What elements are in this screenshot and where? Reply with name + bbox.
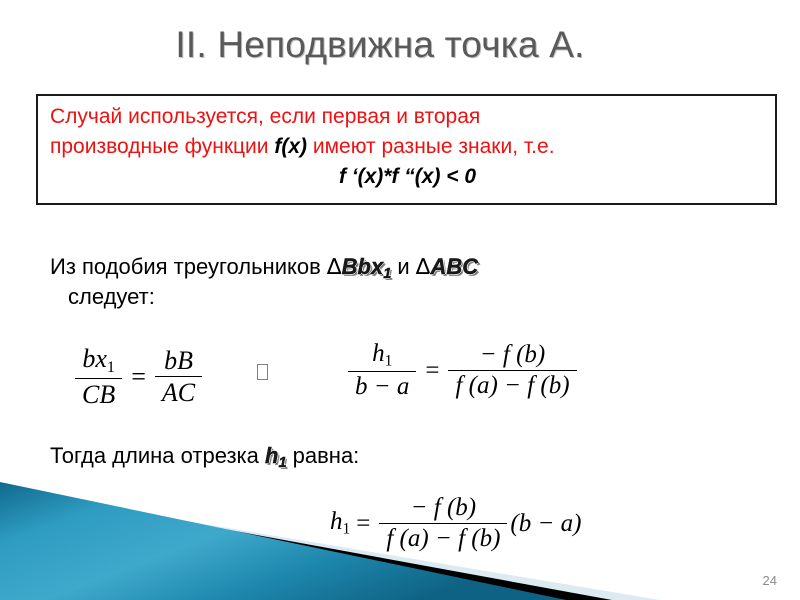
fraction-bb-over-ac: bB AC	[155, 346, 202, 408]
callout-condition-formula: f ‘(x)*f “(x) < 0	[50, 163, 765, 191]
delta-icon: ∆	[327, 255, 342, 280]
fraction-bar	[75, 378, 122, 379]
eq3-denominator: f (a) − f (b)	[379, 525, 507, 553]
eq3-lhs: h1	[330, 508, 350, 539]
callout-line-2-prefix: производные функции	[50, 135, 274, 158]
body-line-segment-length: Тогда длина отрезка h1 равна:	[50, 441, 359, 478]
segment-h-subscript: 1	[278, 455, 286, 471]
body-line-1-prefix: Из подобия треугольников	[50, 254, 327, 279]
eq2-num-text: h	[372, 340, 385, 367]
equation-proportion: bx1 CB = bB AC	[72, 344, 205, 409]
fraction-numerator-2: bB	[157, 346, 200, 375]
page-number: 24	[763, 573, 777, 588]
eq3-numerator: − f (b)	[404, 494, 483, 522]
segment-token-h1: h1	[265, 443, 287, 468]
fraction-bar-2	[155, 376, 202, 377]
callout-line-1-text: Случай используется, если первая и втора…	[50, 105, 480, 128]
implication-arrow-missing-glyph-icon	[257, 364, 268, 380]
triangle-bbx1-letters: Bbx	[342, 254, 384, 279]
fraction-bx1-over-cb: bx1 CB	[75, 344, 122, 409]
equation-h1-ratio: h1 b − a = − f (b) f (a) − f (b)	[345, 340, 580, 401]
triangle-token-bbx1: ∆Bbx1	[327, 254, 391, 279]
eq2-num-subscript: 1	[385, 353, 393, 370]
fraction-denominator-2: AC	[155, 378, 202, 407]
body-line-follows: следует:	[68, 282, 155, 312]
fraction-bar-5	[379, 523, 507, 524]
triangle-abc-letters: ABC	[431, 254, 479, 279]
callout-line-1: Случай используется, если первая и втора…	[50, 102, 765, 132]
eq3-factor: (b − a)	[510, 510, 581, 538]
fraction-neg-fb-over-fa-minus-fb-2: − f (b) f (a) − f (b)	[379, 494, 507, 553]
delta-icon-2: ∆	[416, 255, 431, 280]
eq1-equals-sign: =	[131, 362, 146, 392]
eq1-num-text: bx	[82, 344, 107, 373]
callout-line-2-suffix: имеют разные знаки, т.е.	[307, 135, 555, 158]
fraction-h1-over-b-minus-a: h1 b − a	[348, 340, 416, 401]
body-line-3-suffix: равна:	[287, 443, 360, 468]
body-line-3-prefix: Тогда длина отрезка	[50, 443, 265, 468]
page-title: II. Неподвижна точка А.	[0, 24, 760, 66]
eq2-equals-sign: =	[425, 357, 439, 385]
fraction-bar-3	[348, 371, 416, 372]
triangle-token-abc: ∆ABC	[416, 254, 478, 279]
segment-h-letter: h	[265, 443, 278, 468]
fraction-bar-4	[448, 370, 576, 371]
fraction-denominator: CB	[75, 380, 122, 409]
eq2-denominator: b − a	[348, 373, 416, 401]
eq2-rhs-numerator: − f (b)	[473, 341, 552, 369]
eq3-lhs-letter: h	[330, 508, 343, 535]
body-line-1-conjunction: и	[391, 254, 416, 279]
slide-canvas: II. Неподвижна точка А. Случай используе…	[0, 0, 800, 600]
callout-box: Случай используется, если первая и втора…	[36, 94, 777, 205]
fraction-numerator: bx1	[75, 344, 122, 377]
callout-line-2: производные функции f(x) имеют разные зн…	[50, 132, 765, 162]
equation-h1-result: h1 = − f (b) f (a) − f (b) (b − a)	[330, 494, 581, 553]
fraction-neg-fb-over-fa-minus-fb: − f (b) f (a) − f (b)	[448, 341, 576, 400]
eq2-rhs-denominator: f (a) − f (b)	[448, 372, 576, 400]
eq3-equals-sign: =	[356, 510, 370, 538]
eq1-num-subscript: 1	[107, 359, 115, 376]
callout-function-token: f(x)	[274, 135, 307, 158]
eq3-lhs-subscript: 1	[343, 521, 351, 538]
eq2-numerator: h1	[365, 340, 399, 370]
